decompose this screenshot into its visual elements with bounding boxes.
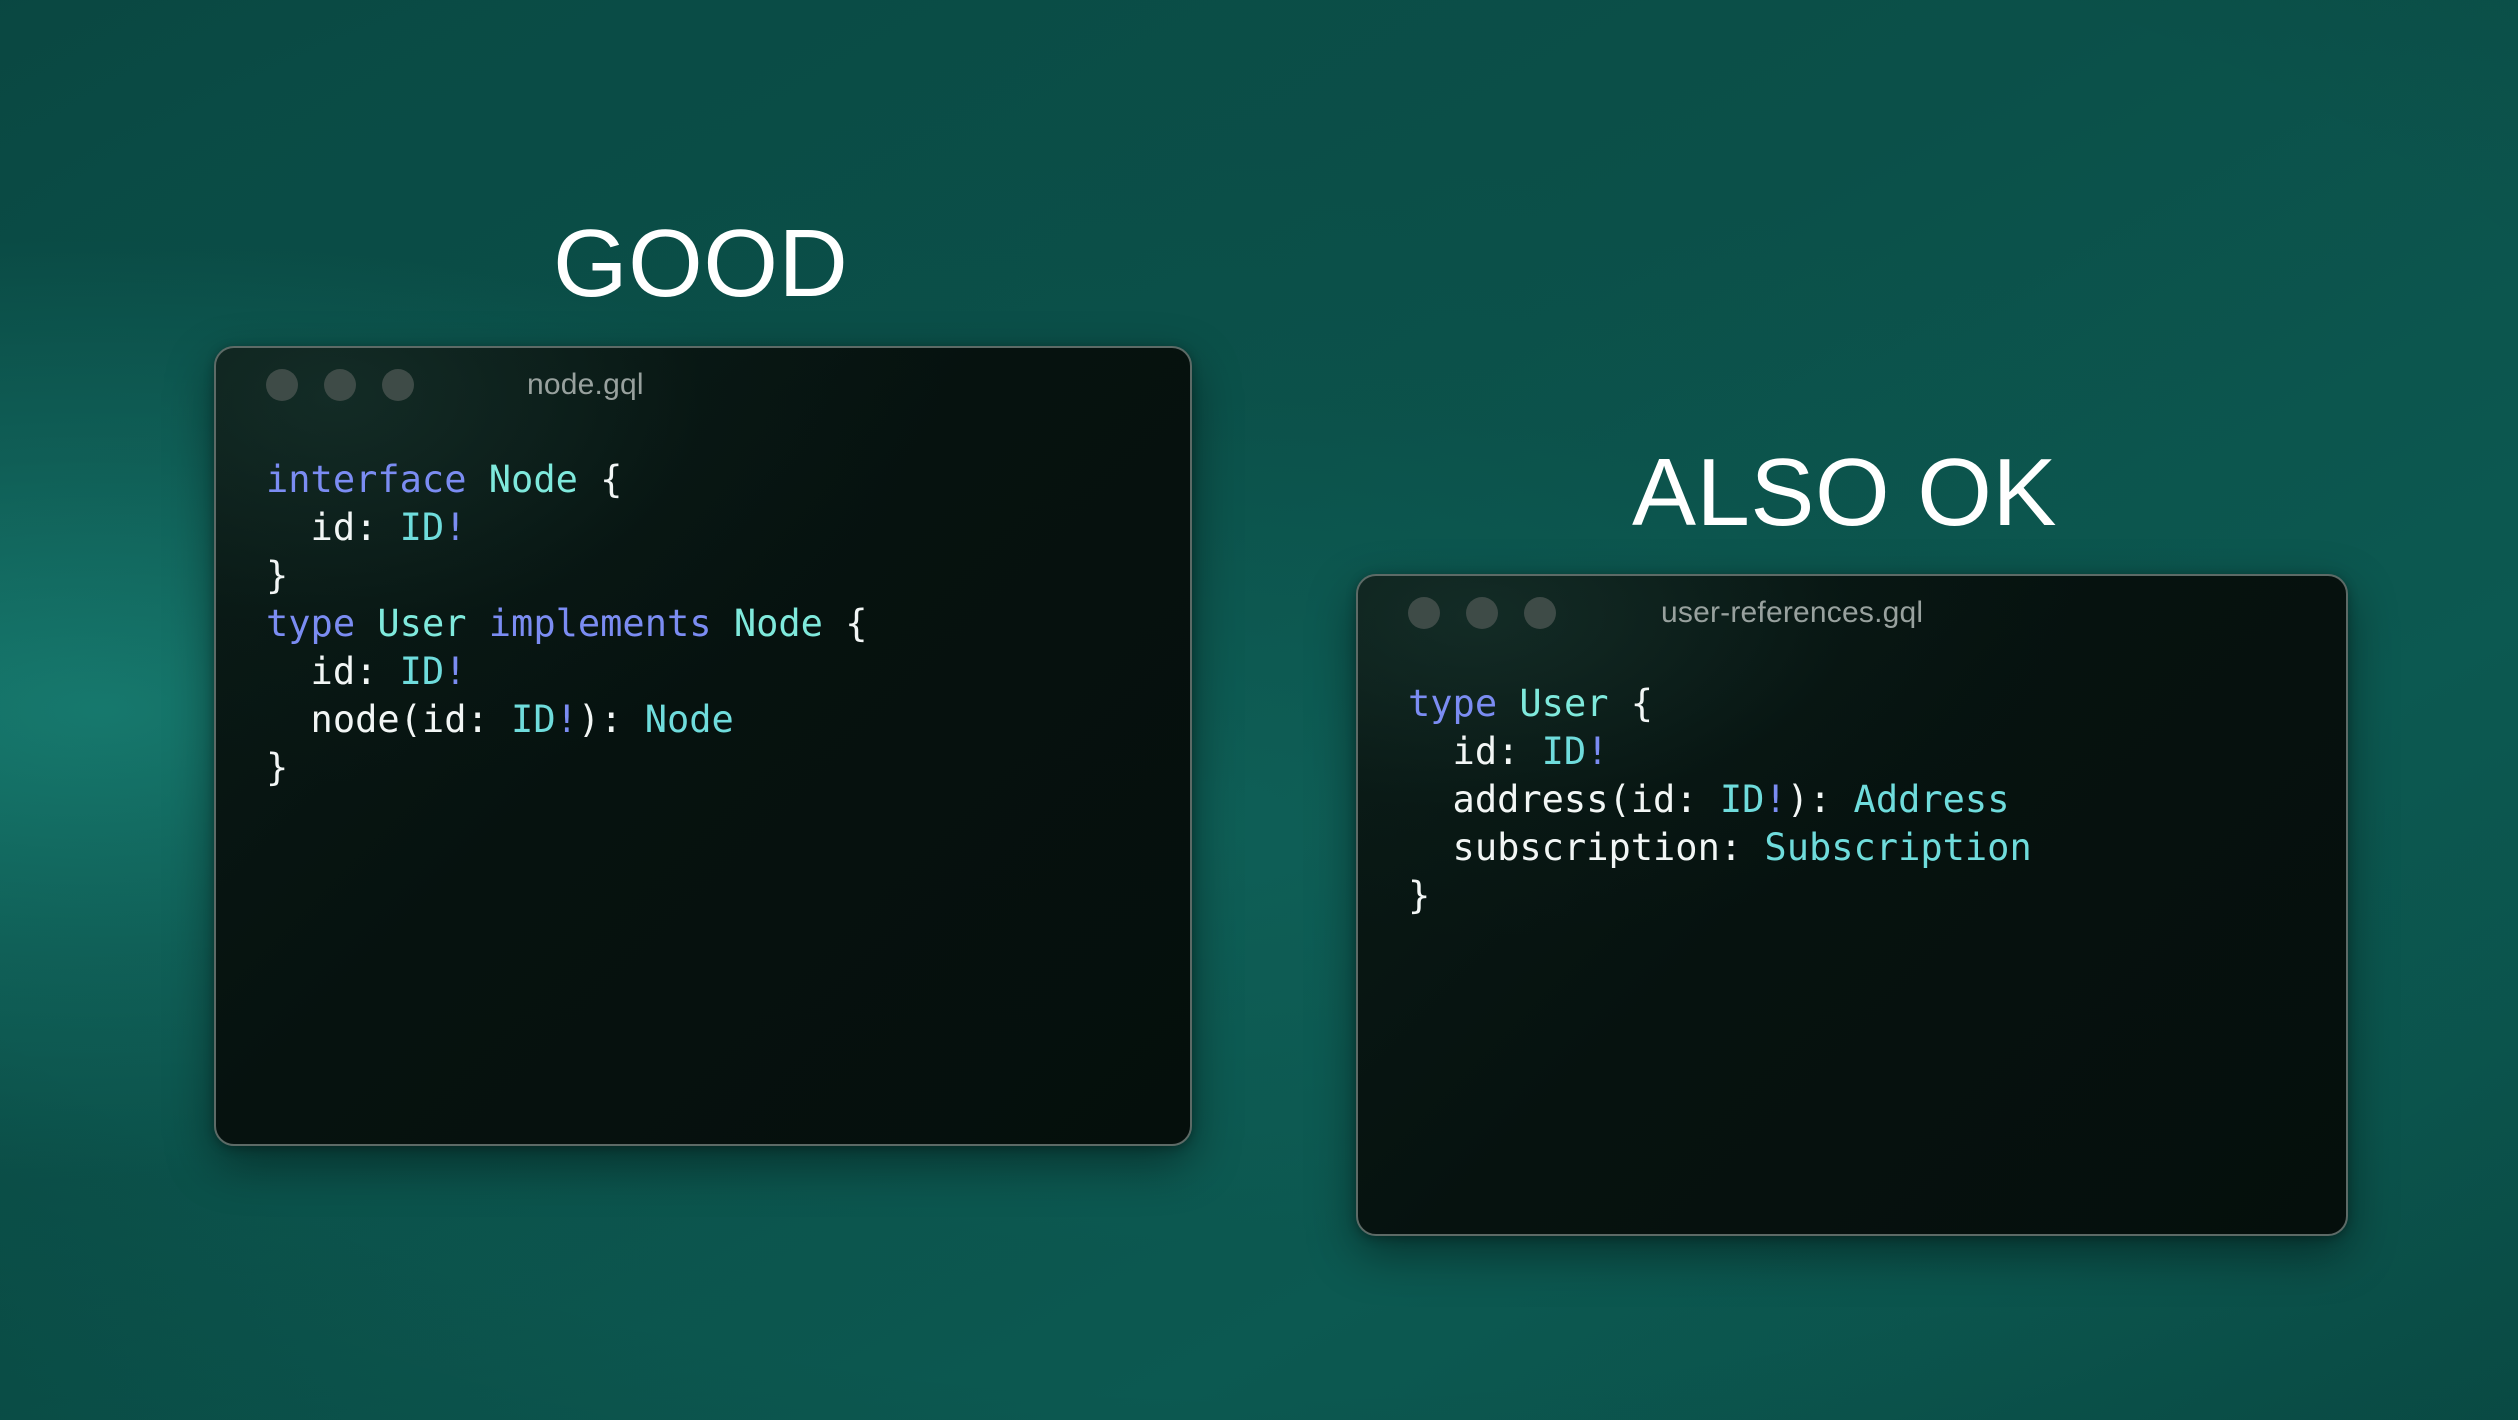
code-token-bang: ! — [556, 698, 578, 741]
code-token-type: User — [1519, 682, 1608, 725]
window-titlebar-also-ok: user-references.gql — [1358, 576, 2346, 650]
code-token-kw: interface — [266, 458, 466, 501]
code-token-plain: } — [266, 746, 288, 789]
code-token-type: User — [377, 602, 466, 645]
minimize-dot-icon[interactable] — [1466, 597, 1498, 629]
code-token-plain: node(id: — [266, 698, 511, 741]
window-titlebar-good: node.gql — [216, 348, 1190, 422]
minimize-dot-icon[interactable] — [324, 369, 356, 401]
code-token-plain: } — [1408, 874, 1430, 917]
code-token-plain — [712, 602, 734, 645]
window-controls-good — [266, 369, 414, 401]
code-token-type: Node — [734, 602, 823, 645]
code-token-cyan: ID — [1720, 778, 1765, 821]
code-line: id: ID! — [266, 504, 1190, 552]
code-token-plain: id: — [266, 506, 400, 549]
code-token-cyan: ID — [1542, 730, 1587, 773]
code-line: } — [266, 744, 1190, 792]
code-token-plain: ): — [1787, 778, 1854, 821]
code-line: interface Node { — [266, 456, 1190, 504]
code-token-plain: id: — [266, 650, 400, 693]
code-token-plain: { — [1609, 682, 1654, 725]
code-line: type User { — [1408, 680, 2346, 728]
code-line: id: ID! — [1408, 728, 2346, 776]
code-window-good: node.gql interface Node { id: ID!}type U… — [214, 346, 1192, 1146]
close-dot-icon[interactable] — [266, 369, 298, 401]
code-line: id: ID! — [266, 648, 1190, 696]
code-token-plain: { — [823, 602, 868, 645]
code-line: node(id: ID!): Node — [266, 696, 1190, 744]
code-token-plain — [467, 602, 489, 645]
code-token-kw: implements — [489, 602, 712, 645]
window-filename-also-ok: user-references.gql — [1661, 596, 1923, 630]
code-line: type User implements Node { — [266, 600, 1190, 648]
code-token-bang: ! — [444, 650, 466, 693]
close-dot-icon[interactable] — [1408, 597, 1440, 629]
code-line: subscription: Subscription — [1408, 824, 2346, 872]
code-token-plain — [1497, 682, 1519, 725]
maximize-dot-icon[interactable] — [382, 369, 414, 401]
code-block-also-ok: type User { id: ID! address(id: ID!): Ad… — [1358, 650, 2346, 920]
code-token-plain: subscription: — [1408, 826, 1764, 869]
code-token-plain — [466, 458, 488, 501]
panel-heading-good: GOOD — [553, 216, 848, 312]
code-token-plain: id: — [1408, 730, 1542, 773]
code-line: } — [1408, 872, 2346, 920]
code-token-cyan: Subscription — [1764, 826, 2031, 869]
code-token-cyan: ID — [400, 650, 445, 693]
code-token-cyan: ID — [511, 698, 556, 741]
code-token-plain: { — [578, 458, 623, 501]
code-token-plain — [355, 602, 377, 645]
code-window-also-ok: user-references.gql type User { id: ID! … — [1356, 574, 2348, 1236]
code-token-plain: address(id: — [1408, 778, 1720, 821]
code-token-cyan: Address — [1854, 778, 2010, 821]
code-line: } — [266, 552, 1190, 600]
code-line: address(id: ID!): Address — [1408, 776, 2346, 824]
code-token-bang: ! — [444, 506, 466, 549]
code-block-good: interface Node { id: ID!}type User imple… — [216, 422, 1190, 792]
code-token-plain: } — [266, 554, 288, 597]
maximize-dot-icon[interactable] — [1524, 597, 1556, 629]
window-filename-good: node.gql — [527, 368, 644, 402]
window-controls-also-ok — [1408, 597, 1556, 629]
code-token-type: Node — [489, 458, 578, 501]
code-token-cyan: Node — [645, 698, 734, 741]
code-token-bang: ! — [1586, 730, 1608, 773]
code-token-kw: type — [1408, 682, 1497, 725]
code-token-cyan: ID — [400, 506, 445, 549]
panel-heading-also-ok: ALSO OK — [1632, 445, 2057, 541]
code-token-plain: ): — [578, 698, 645, 741]
code-token-kw: type — [266, 602, 355, 645]
code-token-bang: ! — [1764, 778, 1786, 821]
